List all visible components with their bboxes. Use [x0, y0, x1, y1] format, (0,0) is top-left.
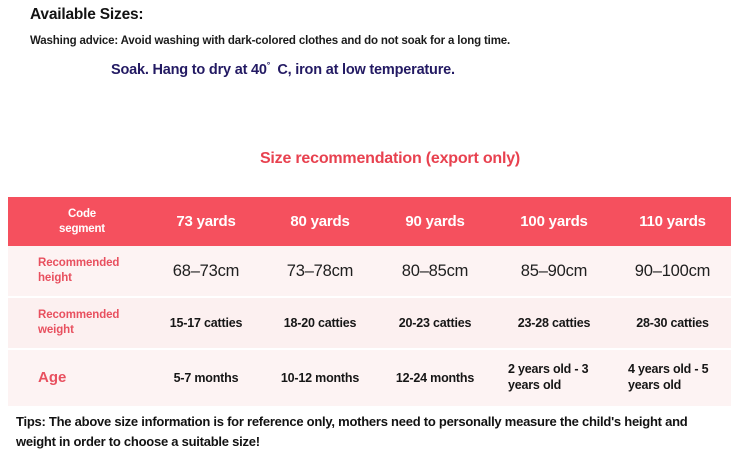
code-segment-line1: Code	[16, 207, 148, 221]
tips-footer-text: Tips: The above size information is for …	[16, 412, 730, 451]
column-header-100-yards: 100 yards	[494, 197, 614, 246]
cell-age-100-line1: 2 years old - 3	[508, 362, 614, 378]
cell-age-80: 10-12 months	[264, 349, 376, 406]
cell-age-110-line2: years old	[628, 378, 731, 394]
cell-age-100-line2: years old	[508, 378, 614, 394]
table-row: Recommended height 68–73cm 73–78cm 80–85…	[8, 246, 731, 297]
cell-age-90: 12-24 months	[376, 349, 494, 406]
column-header-80-yards: 80 yards	[264, 197, 376, 246]
cell-height-73: 68–73cm	[148, 246, 264, 297]
column-header-110-yards: 110 yards	[614, 197, 731, 246]
cell-height-80: 73–78cm	[264, 246, 376, 297]
cell-age-73: 5-7 months	[148, 349, 264, 406]
table-row: Recommended weight 15-17 catties 18-20 c…	[8, 297, 731, 349]
table-row: Age 5-7 months 10-12 months 12-24 months…	[8, 349, 731, 406]
column-header-90-yards: 90 yards	[376, 197, 494, 246]
degree-symbol-icon: °	[267, 60, 271, 70]
row-label-line2: weight	[38, 323, 148, 338]
cell-weight-100: 23-28 catties	[494, 297, 614, 349]
soak-prefix-text: Soak. Hang to dry at 40	[111, 62, 267, 78]
available-sizes-heading: Available Sizes:	[30, 6, 143, 24]
row-label-recommended-weight: Recommended weight	[8, 297, 148, 349]
cell-weight-73: 15-17 catties	[148, 297, 264, 349]
cell-age-100: 2 years old - 3 years old	[494, 349, 614, 406]
soak-instruction-line: Soak. Hang to dry at 40°C, iron at low t…	[111, 60, 455, 78]
cell-height-90: 80–85cm	[376, 246, 494, 297]
row-label-line2: height	[38, 271, 148, 286]
size-chart-page: { "info": { "available_sizes_heading": "…	[0, 0, 750, 469]
cell-weight-110: 28-30 catties	[614, 297, 731, 349]
column-header-code-segment: Code segment	[8, 197, 148, 246]
row-label-line1: Age	[38, 368, 148, 388]
cell-weight-90: 20-23 catties	[376, 297, 494, 349]
cell-weight-80: 18-20 catties	[264, 297, 376, 349]
table-header-row: Code segment 73 yards 80 yards 90 yards …	[8, 197, 731, 246]
table-header: Code segment 73 yards 80 yards 90 yards …	[8, 197, 731, 246]
row-label-line1: Recommended	[38, 308, 148, 323]
cell-height-110: 90–100cm	[614, 246, 731, 297]
cell-age-110-line1: 4 years old - 5	[628, 362, 731, 378]
cell-age-110: 4 years old - 5 years old	[614, 349, 731, 406]
soak-suffix-text: C, iron at low temperature.	[277, 62, 455, 78]
row-label-age: Age	[8, 349, 148, 406]
row-label-recommended-height: Recommended height	[8, 246, 148, 297]
cell-height-100: 85–90cm	[494, 246, 614, 297]
row-label-line1: Recommended	[38, 256, 148, 271]
care-instructions-block: Available Sizes: Washing advice: Avoid w…	[0, 0, 750, 140]
washing-advice-text: Washing advice: Avoid washing with dark-…	[30, 35, 510, 47]
section-title: Size recommendation (export only)	[0, 150, 750, 168]
size-recommendation-table: Code segment 73 yards 80 yards 90 yards …	[8, 197, 731, 406]
table-body: Recommended height 68–73cm 73–78cm 80–85…	[8, 246, 731, 406]
code-segment-line2: segment	[16, 222, 148, 236]
column-header-73-yards: 73 yards	[148, 197, 264, 246]
